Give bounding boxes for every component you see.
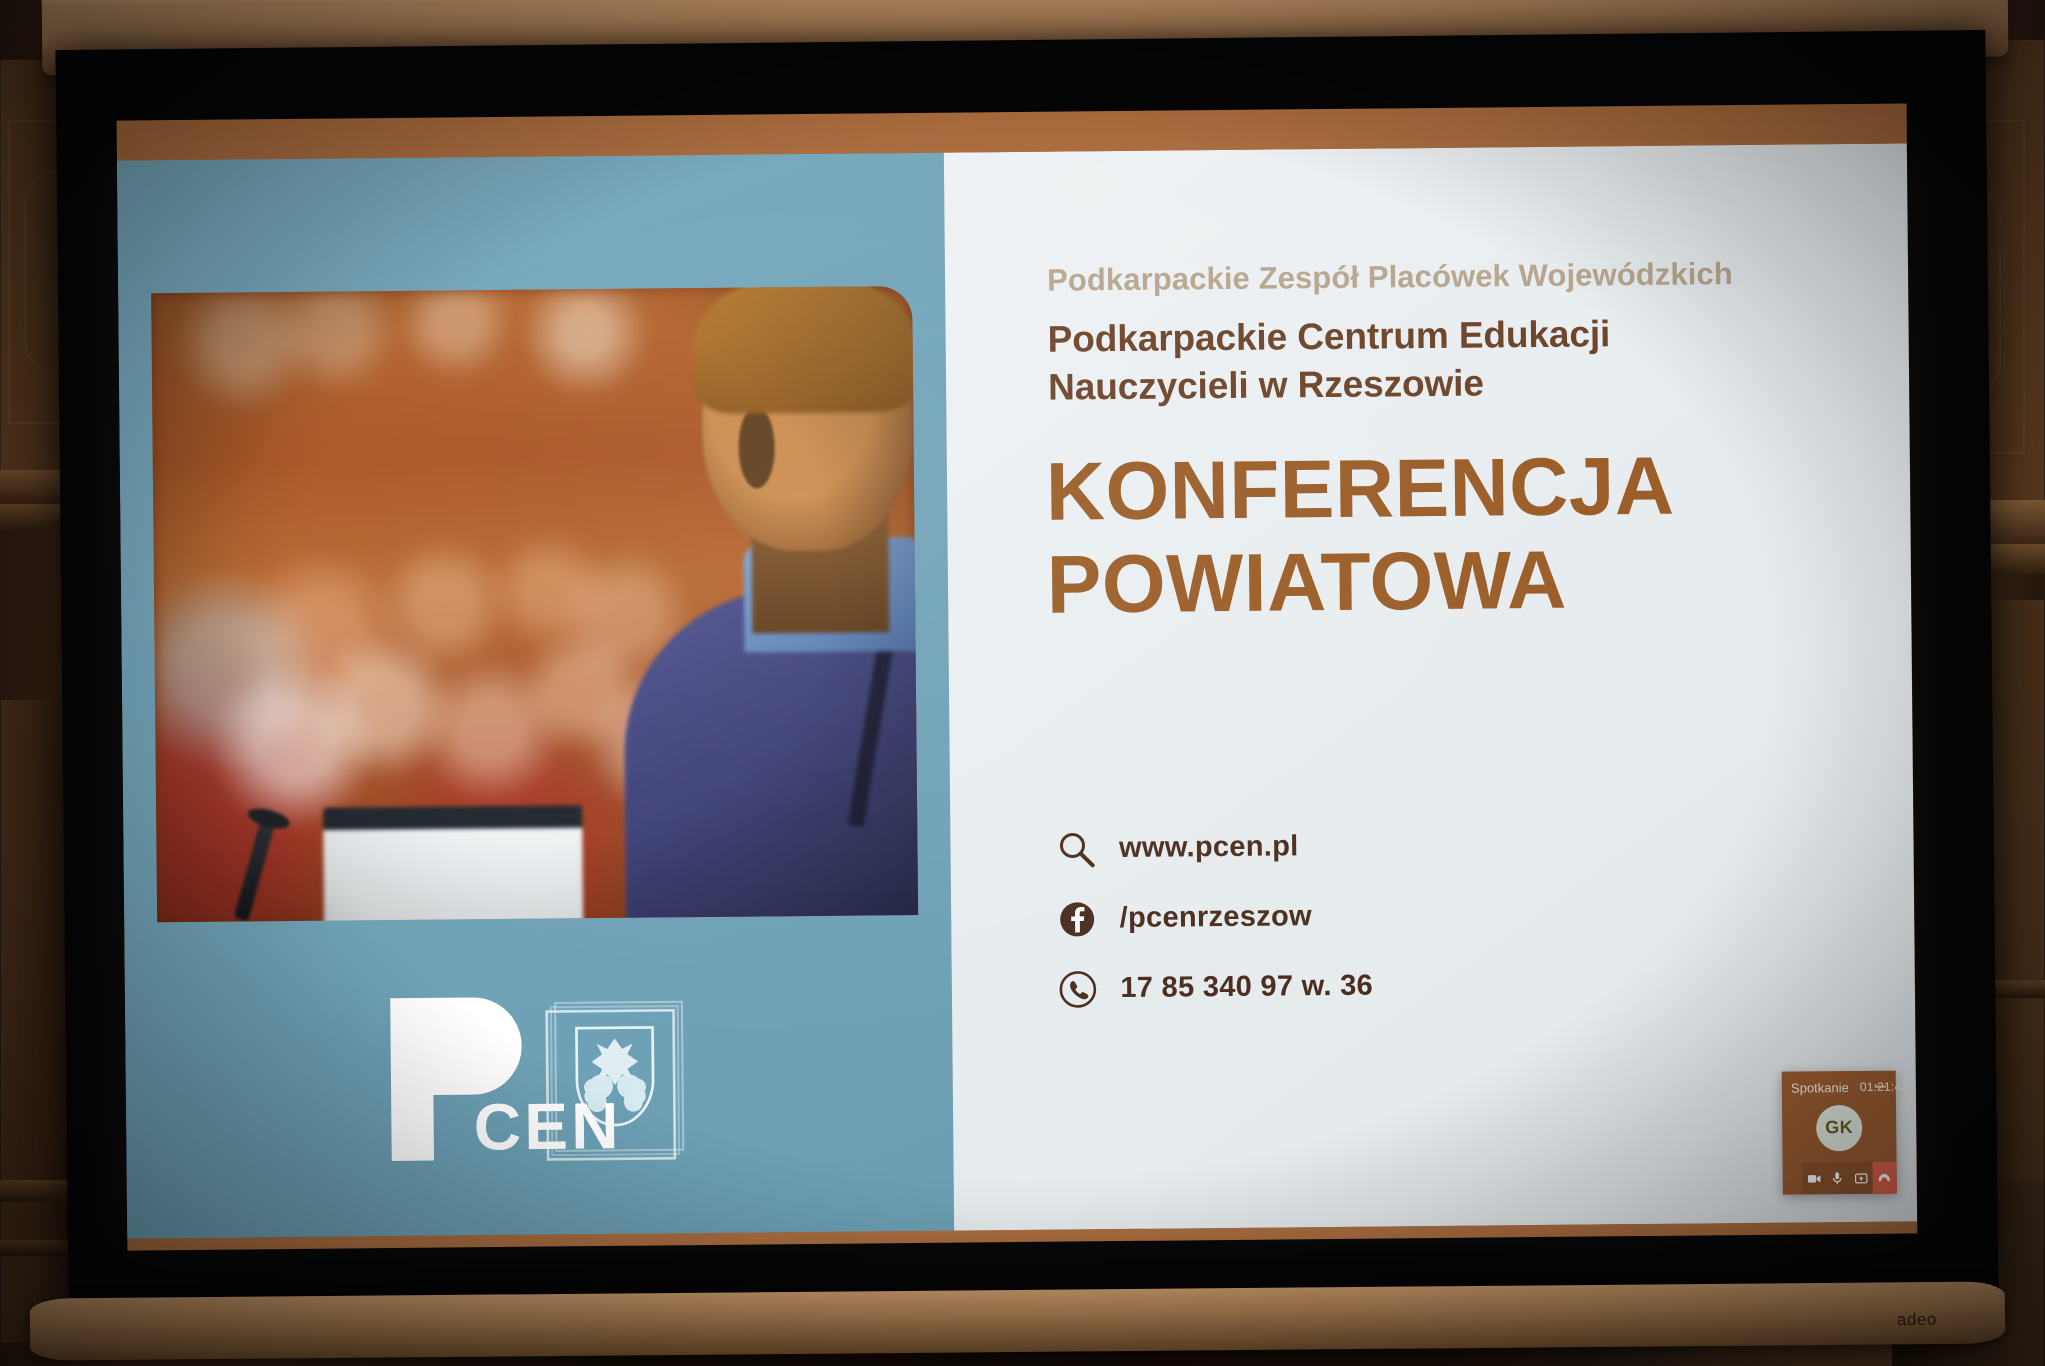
slide-contact-list: www.pcen.pl /pcenrzeszow — [1055, 826, 1373, 1011]
org-line-2: Nauczycieli w Rzeszowie — [1048, 358, 1611, 411]
contact-facebook-text: /pcenrzeszow — [1120, 901, 1312, 936]
hang-up-button[interactable] — [1873, 1162, 1897, 1194]
slide-main-title: KONFERENCJA POWIATOWA — [1045, 441, 1675, 632]
call-title-bar: Spotkanie 01:21:42 — [1782, 1071, 1896, 1104]
camera-button[interactable] — [1802, 1162, 1826, 1194]
slide-left-panel: CEN — [117, 153, 954, 1239]
contact-row-facebook: /pcenrzeszow — [1056, 896, 1373, 941]
facebook-icon — [1056, 898, 1098, 940]
avatar-initials: GK — [1825, 1117, 1853, 1138]
screen-brand-label: adeo — [1897, 1310, 1937, 1330]
presentation-slide: CEN Podkarpackie Zespół Placówek Wojewód… — [117, 143, 1917, 1238]
contact-phone-text: 17 85 340 97 w. 36 — [1120, 970, 1373, 1005]
conference-speaker-photo — [151, 286, 918, 923]
phone-hangup-icon — [1877, 1170, 1892, 1185]
video-call-overlay[interactable]: Spotkanie 01:21:42 GK — [1782, 1071, 1897, 1195]
slide-organization-name: Podkarpackie Centrum Edukacji Nauczyciel… — [1047, 310, 1610, 412]
pcen-logo: CEN — [348, 958, 731, 1199]
title-line-1: KONFERENCJA — [1045, 441, 1674, 540]
slide-right-panel: Podkarpackie Zespół Placówek Wojewódzkic… — [944, 143, 1917, 1230]
screenshot-stage: CEN Podkarpackie Zespół Placówek Wojewód… — [0, 0, 2045, 1366]
contact-row-phone: 17 85 340 97 w. 36 — [1056, 966, 1373, 1011]
pcen-logo-graphic: CEN — [348, 958, 731, 1199]
pcen-logo-word: CEN — [474, 1089, 623, 1163]
photo-vignette — [151, 286, 918, 923]
minimize-icon[interactable] — [1875, 1085, 1886, 1087]
org-line-1: Podkarpackie Centrum Edukacji — [1047, 310, 1610, 363]
call-title-label: Spotkanie — [1791, 1080, 1849, 1096]
call-controls-bar — [1802, 1162, 1897, 1195]
share-screen-button[interactable] — [1849, 1162, 1873, 1194]
participant-avatar: GK — [1816, 1105, 1862, 1151]
contact-row-website: www.pcen.pl — [1055, 826, 1372, 871]
video-camera-icon — [1806, 1171, 1821, 1186]
microphone-icon — [1830, 1171, 1845, 1186]
contact-website-text: www.pcen.pl — [1119, 831, 1299, 866]
screen-share-icon — [1854, 1170, 1869, 1185]
phone-icon — [1056, 968, 1098, 1010]
search-icon — [1055, 828, 1097, 870]
slide-eyebrow-text: Podkarpackie Zespół Placówek Wojewódzkic… — [1047, 256, 1733, 299]
microphone-button[interactable] — [1826, 1162, 1850, 1194]
title-line-2: POWIATOWA — [1046, 534, 1675, 633]
